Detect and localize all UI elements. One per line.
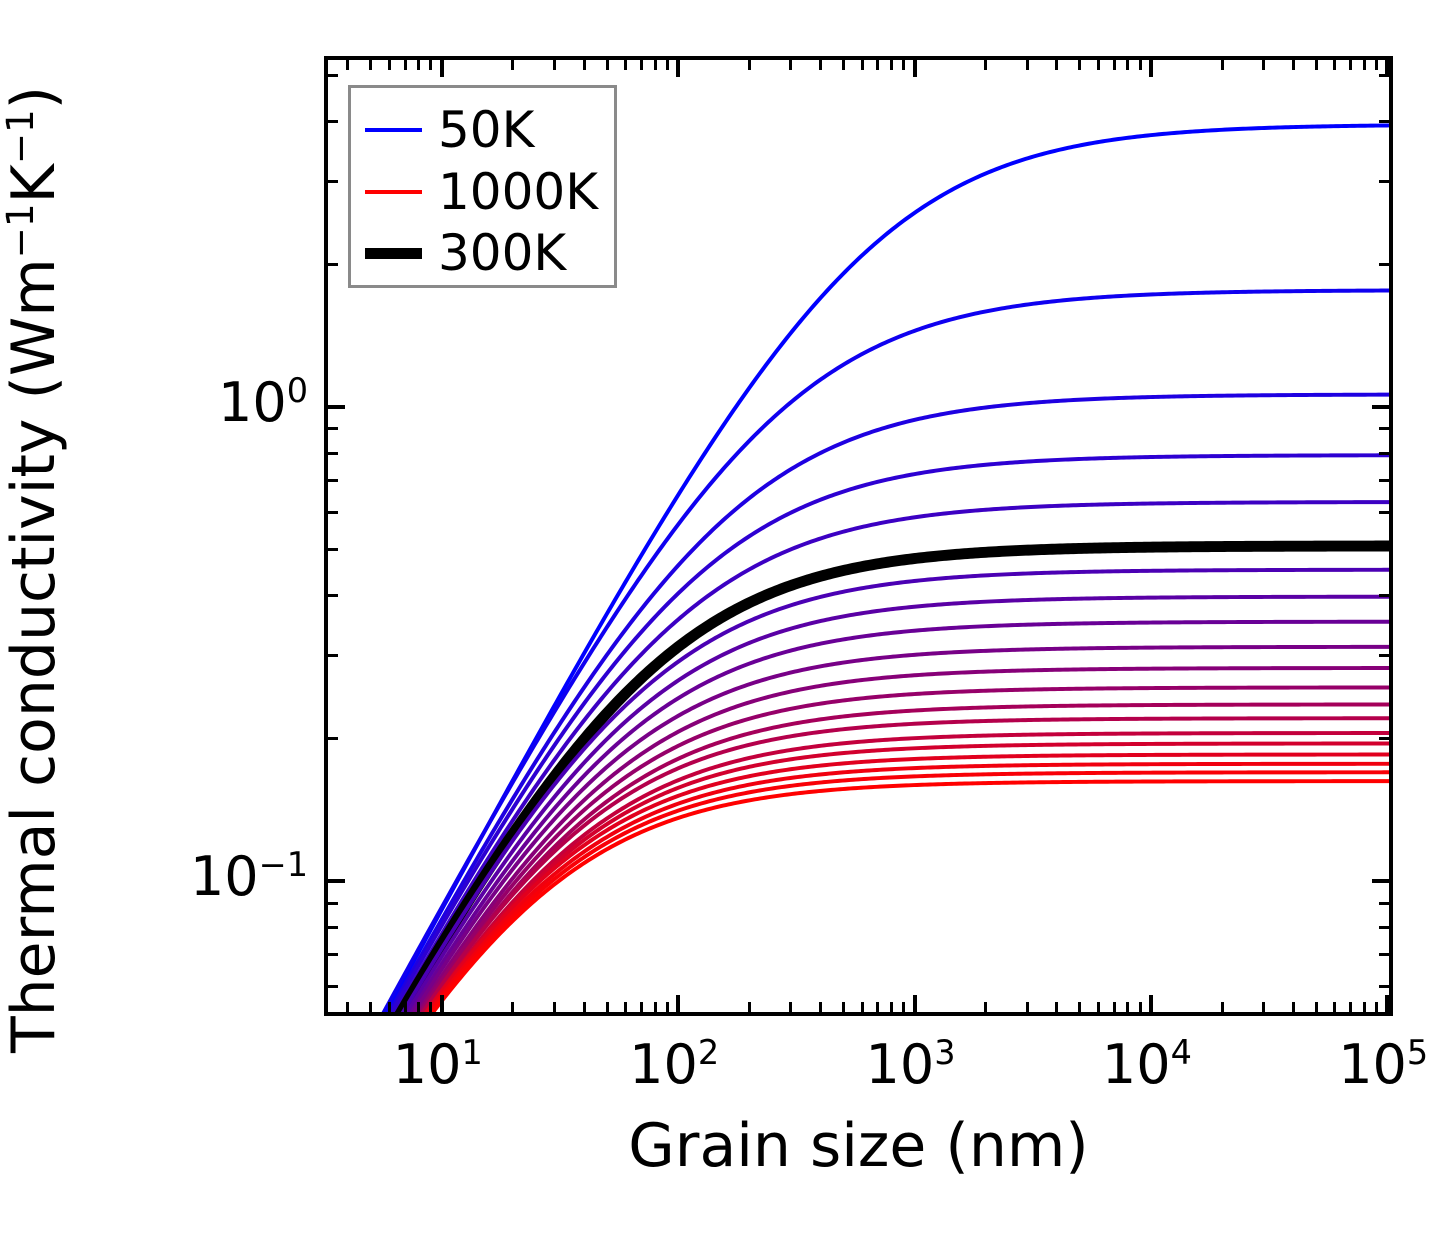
x-tick-top <box>1149 59 1153 77</box>
x-tick <box>1055 1002 1058 1013</box>
y-tick <box>327 74 338 77</box>
x-tick <box>676 995 680 1013</box>
y-tick <box>327 654 338 657</box>
x-tick-top <box>666 59 669 70</box>
x-tick-mantissa: 10 <box>865 1033 934 1096</box>
x-tick-top <box>1139 59 1142 70</box>
y-tick-right <box>1379 985 1390 988</box>
y-tick-right <box>1379 427 1390 430</box>
x-tick <box>1363 1002 1366 1013</box>
x-tick <box>1315 1002 1318 1013</box>
y-tick-right <box>1379 120 1390 123</box>
x-tick-top <box>1026 59 1029 70</box>
x-tick <box>640 1002 643 1013</box>
x-tick-top <box>1078 59 1081 70</box>
y-tick-right <box>1379 953 1390 956</box>
x-tick-top <box>1262 59 1265 70</box>
x-tick-top <box>902 59 905 70</box>
x-tick <box>429 1002 432 1013</box>
x-tick-mantissa: 10 <box>1102 1033 1171 1096</box>
x-tick-top <box>676 59 680 77</box>
x-tick <box>876 1002 879 1013</box>
x-tick-top <box>890 59 893 70</box>
x-tick-label: 104 <box>1102 1038 1192 1092</box>
x-tick-top <box>1349 59 1352 70</box>
x-tick <box>553 1002 556 1013</box>
legend-item-label: 50K <box>438 105 534 155</box>
x-tick-top <box>1292 59 1295 70</box>
figure: 10010−1 101102103104105 Grain size (nm) … <box>0 0 1454 1254</box>
x-tick-exponent: 1 <box>462 1033 483 1072</box>
x-tick <box>913 995 917 1013</box>
x-tick <box>1149 995 1153 1013</box>
x-tick-top <box>417 59 420 70</box>
x-tick <box>1333 1002 1336 1013</box>
x-tick <box>1139 1002 1142 1013</box>
y-tick-right <box>1379 926 1390 929</box>
y-tick-right <box>1379 479 1390 482</box>
y-tick-right <box>1379 594 1390 597</box>
x-tick-top <box>606 59 609 70</box>
x-tick-top <box>1055 59 1058 70</box>
x-tick-label: 102 <box>629 1038 719 1092</box>
x-tick <box>1097 1002 1100 1013</box>
x-tick-top <box>388 59 391 70</box>
x-tick-top <box>1315 59 1318 70</box>
legend-item-label: 300K <box>438 228 566 278</box>
y-tick-mantissa: 10 <box>218 371 287 434</box>
x-tick-top <box>984 59 987 70</box>
x-tick-mantissa: 10 <box>629 1033 698 1096</box>
y-tick-right <box>1379 452 1390 455</box>
x-tick <box>748 1002 751 1013</box>
x-tick-top <box>819 59 822 70</box>
x-tick-top <box>1385 59 1389 77</box>
x-tick-top <box>842 59 845 70</box>
legend-line-swatch <box>365 248 422 259</box>
x-tick-top <box>876 59 879 70</box>
y-tick-exponent: −1 <box>259 845 308 884</box>
x-tick <box>902 1002 905 1013</box>
x-tick-mantissa: 10 <box>1338 1033 1407 1096</box>
legend-item-1000k[interactable]: 1000K <box>351 162 614 222</box>
x-axis-title: Grain size (nm) <box>324 1113 1393 1179</box>
x-tick <box>404 1002 407 1013</box>
y-tick <box>327 594 338 597</box>
x-tick-top <box>624 59 627 70</box>
x-tick-top <box>583 59 586 70</box>
x-tick-top <box>553 59 556 70</box>
legend-item-50k[interactable]: 50K <box>351 100 614 160</box>
x-tick <box>1375 1002 1378 1013</box>
y-tick-mantissa: 10 <box>190 845 259 908</box>
y-tick <box>327 737 338 740</box>
x-tick-top <box>429 59 432 70</box>
x-tick <box>1126 1002 1129 1013</box>
x-tick-top <box>1126 59 1129 70</box>
y-tick-label: 10−1 <box>190 850 308 904</box>
x-tick <box>1349 1002 1352 1013</box>
x-tick <box>984 1002 987 1013</box>
curve-850k <box>328 755 1389 1012</box>
x-tick-top <box>1113 59 1116 70</box>
y-tick-label: 100 <box>218 376 308 430</box>
x-tick-exponent: 3 <box>934 1033 955 1072</box>
y-axis-title: Thermal conductivity (Wm−1K−1) <box>0 93 78 1053</box>
y-tick-right <box>1379 511 1390 514</box>
x-tick <box>890 1002 893 1013</box>
x-tick <box>606 1002 609 1013</box>
x-tick-top <box>861 59 864 70</box>
x-tick-top <box>1363 59 1366 70</box>
x-tick-top <box>369 59 372 70</box>
y-tick <box>327 548 338 551</box>
legend-line-swatch <box>365 128 422 132</box>
y-tick-right <box>1379 654 1390 657</box>
x-tick <box>1026 1002 1029 1013</box>
y-tick <box>327 926 338 929</box>
y-tick <box>327 953 338 956</box>
curve-950k <box>328 772 1389 1012</box>
x-tick <box>1113 1002 1116 1013</box>
x-tick-exponent: 4 <box>1171 1033 1192 1072</box>
y-tick <box>327 427 338 430</box>
x-tick-top <box>440 59 444 77</box>
x-tick <box>440 995 444 1013</box>
y-tick <box>327 405 345 409</box>
y-tick-right <box>1379 548 1390 551</box>
x-tick-top <box>654 59 657 70</box>
x-tick <box>417 1002 420 1013</box>
y-tick <box>327 452 338 455</box>
x-tick <box>583 1002 586 1013</box>
x-tick-top <box>511 59 514 70</box>
x-tick-label: 103 <box>865 1038 955 1092</box>
x-tick-top <box>1221 59 1224 70</box>
x-tick <box>1385 995 1389 1013</box>
y-tick-right <box>1379 902 1390 905</box>
x-tick <box>861 1002 864 1013</box>
legend-box: 50K1000K300K <box>348 85 617 288</box>
x-tick <box>789 1002 792 1013</box>
x-tick-top <box>1097 59 1100 70</box>
x-tick <box>1262 1002 1265 1013</box>
x-tick <box>819 1002 822 1013</box>
y-tick-exponent: 0 <box>287 371 308 410</box>
y-tick <box>327 985 338 988</box>
x-tick <box>1292 1002 1295 1013</box>
legend-item-label: 1000K <box>438 167 598 217</box>
x-tick-top <box>346 59 349 70</box>
y-tick-right <box>1372 405 1390 409</box>
x-tick-top <box>913 59 917 77</box>
y-tick-right <box>1372 879 1390 883</box>
y-tick <box>327 263 338 266</box>
x-tick <box>1078 1002 1081 1013</box>
x-tick-top <box>640 59 643 70</box>
x-tick <box>1221 1002 1224 1013</box>
y-tick <box>327 180 338 183</box>
x-tick <box>511 1002 514 1013</box>
x-tick-top <box>789 59 792 70</box>
x-tick <box>346 1002 349 1013</box>
y-tick-right <box>1379 737 1390 740</box>
y-tick <box>327 511 338 514</box>
x-tick <box>654 1002 657 1013</box>
x-tick <box>388 1002 391 1013</box>
x-tick <box>666 1002 669 1013</box>
x-tick <box>369 1002 372 1013</box>
y-tick-right <box>1379 263 1390 266</box>
y-tick <box>327 879 345 883</box>
x-tick-exponent: 5 <box>1407 1033 1428 1072</box>
x-tick-mantissa: 10 <box>393 1033 462 1096</box>
y-tick-right <box>1379 180 1390 183</box>
legend-item-300k[interactable]: 300K <box>351 223 614 283</box>
x-tick-label: 105 <box>1338 1038 1428 1092</box>
y-tick <box>327 120 338 123</box>
x-tick <box>624 1002 627 1013</box>
x-tick-top <box>1333 59 1336 70</box>
y-tick <box>327 479 338 482</box>
x-tick-top <box>748 59 751 70</box>
x-tick-top <box>404 59 407 70</box>
x-tick <box>842 1002 845 1013</box>
legend-line-swatch <box>365 190 422 194</box>
x-tick-top <box>1375 59 1378 70</box>
y-tick <box>327 902 338 905</box>
x-tick-label: 101 <box>393 1038 483 1092</box>
x-tick-exponent: 2 <box>698 1033 719 1072</box>
